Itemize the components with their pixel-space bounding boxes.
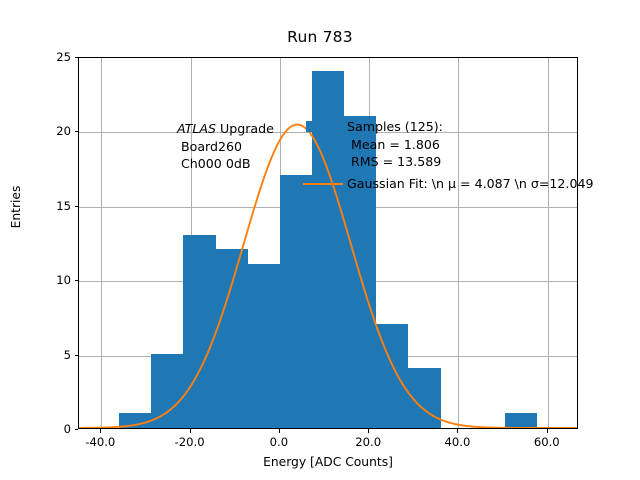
y-tick-mark bbox=[75, 57, 79, 58]
legend-patch-histogram bbox=[301, 118, 347, 135]
y-tick-mark bbox=[75, 131, 79, 132]
legend-entry-fit: Gaussian Fit: \n μ = 4.087 \n σ=12.049 bbox=[301, 175, 593, 193]
x-tick-mark bbox=[279, 429, 280, 433]
x-tick-mark bbox=[190, 429, 191, 433]
legend-label-samples: Samples (125):Mean = 1.806RMS = 13.589 bbox=[347, 118, 443, 171]
y-tick-mark bbox=[75, 355, 79, 356]
legend-samples-mean: Mean = 1.806 bbox=[347, 136, 443, 154]
y-tick-label: 10 bbox=[56, 273, 71, 287]
legend-entry-samples: Samples (125):Mean = 1.806RMS = 13.589 bbox=[301, 118, 593, 171]
x-axis-label: Energy [ADC Counts] bbox=[78, 455, 578, 469]
legend-samples-header: Samples (125): bbox=[347, 119, 443, 134]
y-tick-mark bbox=[75, 280, 79, 281]
plot-area bbox=[79, 58, 577, 428]
y-tick-label: 5 bbox=[64, 348, 71, 362]
y-tick-label: 20 bbox=[56, 124, 71, 138]
gaussian-fit-curve bbox=[79, 58, 577, 428]
chart-title: Run 783 bbox=[0, 28, 640, 46]
y-tick-mark bbox=[75, 206, 79, 207]
annotation-line-1: ATLAS Upgrade bbox=[177, 120, 274, 138]
figure-canvas: Run 783 ATLAS Upgrade Board260 Ch000 0dB… bbox=[0, 0, 640, 480]
y-tick-label: 15 bbox=[56, 199, 71, 213]
plot-axes: ATLAS Upgrade Board260 Ch000 0dB Samples… bbox=[78, 57, 578, 429]
atlas-annotation: ATLAS Upgrade Board260 Ch000 0dB bbox=[177, 120, 274, 173]
y-axis-label: Entries bbox=[9, 127, 23, 287]
annotation-line-3: Ch000 0dB bbox=[177, 155, 274, 173]
y-tick-label: 0 bbox=[64, 422, 71, 436]
x-tick-label: -40.0 bbox=[85, 435, 115, 449]
x-tick-mark bbox=[547, 429, 548, 433]
x-tick-mark bbox=[100, 429, 101, 433]
x-tick-label: 40.0 bbox=[445, 435, 471, 449]
x-tick-mark bbox=[368, 429, 369, 433]
x-tick-label: 60.0 bbox=[534, 435, 560, 449]
x-tick-label: -20.0 bbox=[175, 435, 205, 449]
annotation-line-2: Board260 bbox=[177, 138, 274, 156]
legend-line-fit bbox=[301, 175, 347, 192]
x-tick-mark bbox=[457, 429, 458, 433]
legend-label-fit: Gaussian Fit: \n μ = 4.087 \n σ=12.049 bbox=[347, 175, 593, 193]
y-tick-mark bbox=[75, 429, 79, 430]
upgrade-label: Upgrade bbox=[216, 121, 274, 136]
x-tick-label: 0.0 bbox=[270, 435, 288, 449]
legend-samples-rms: RMS = 13.589 bbox=[347, 153, 443, 171]
chart-legend: Samples (125):Mean = 1.806RMS = 13.589 G… bbox=[301, 118, 593, 192]
y-tick-label: 25 bbox=[56, 50, 71, 64]
x-tick-label: 20.0 bbox=[355, 435, 381, 449]
atlas-italic-label: ATLAS bbox=[177, 121, 216, 136]
